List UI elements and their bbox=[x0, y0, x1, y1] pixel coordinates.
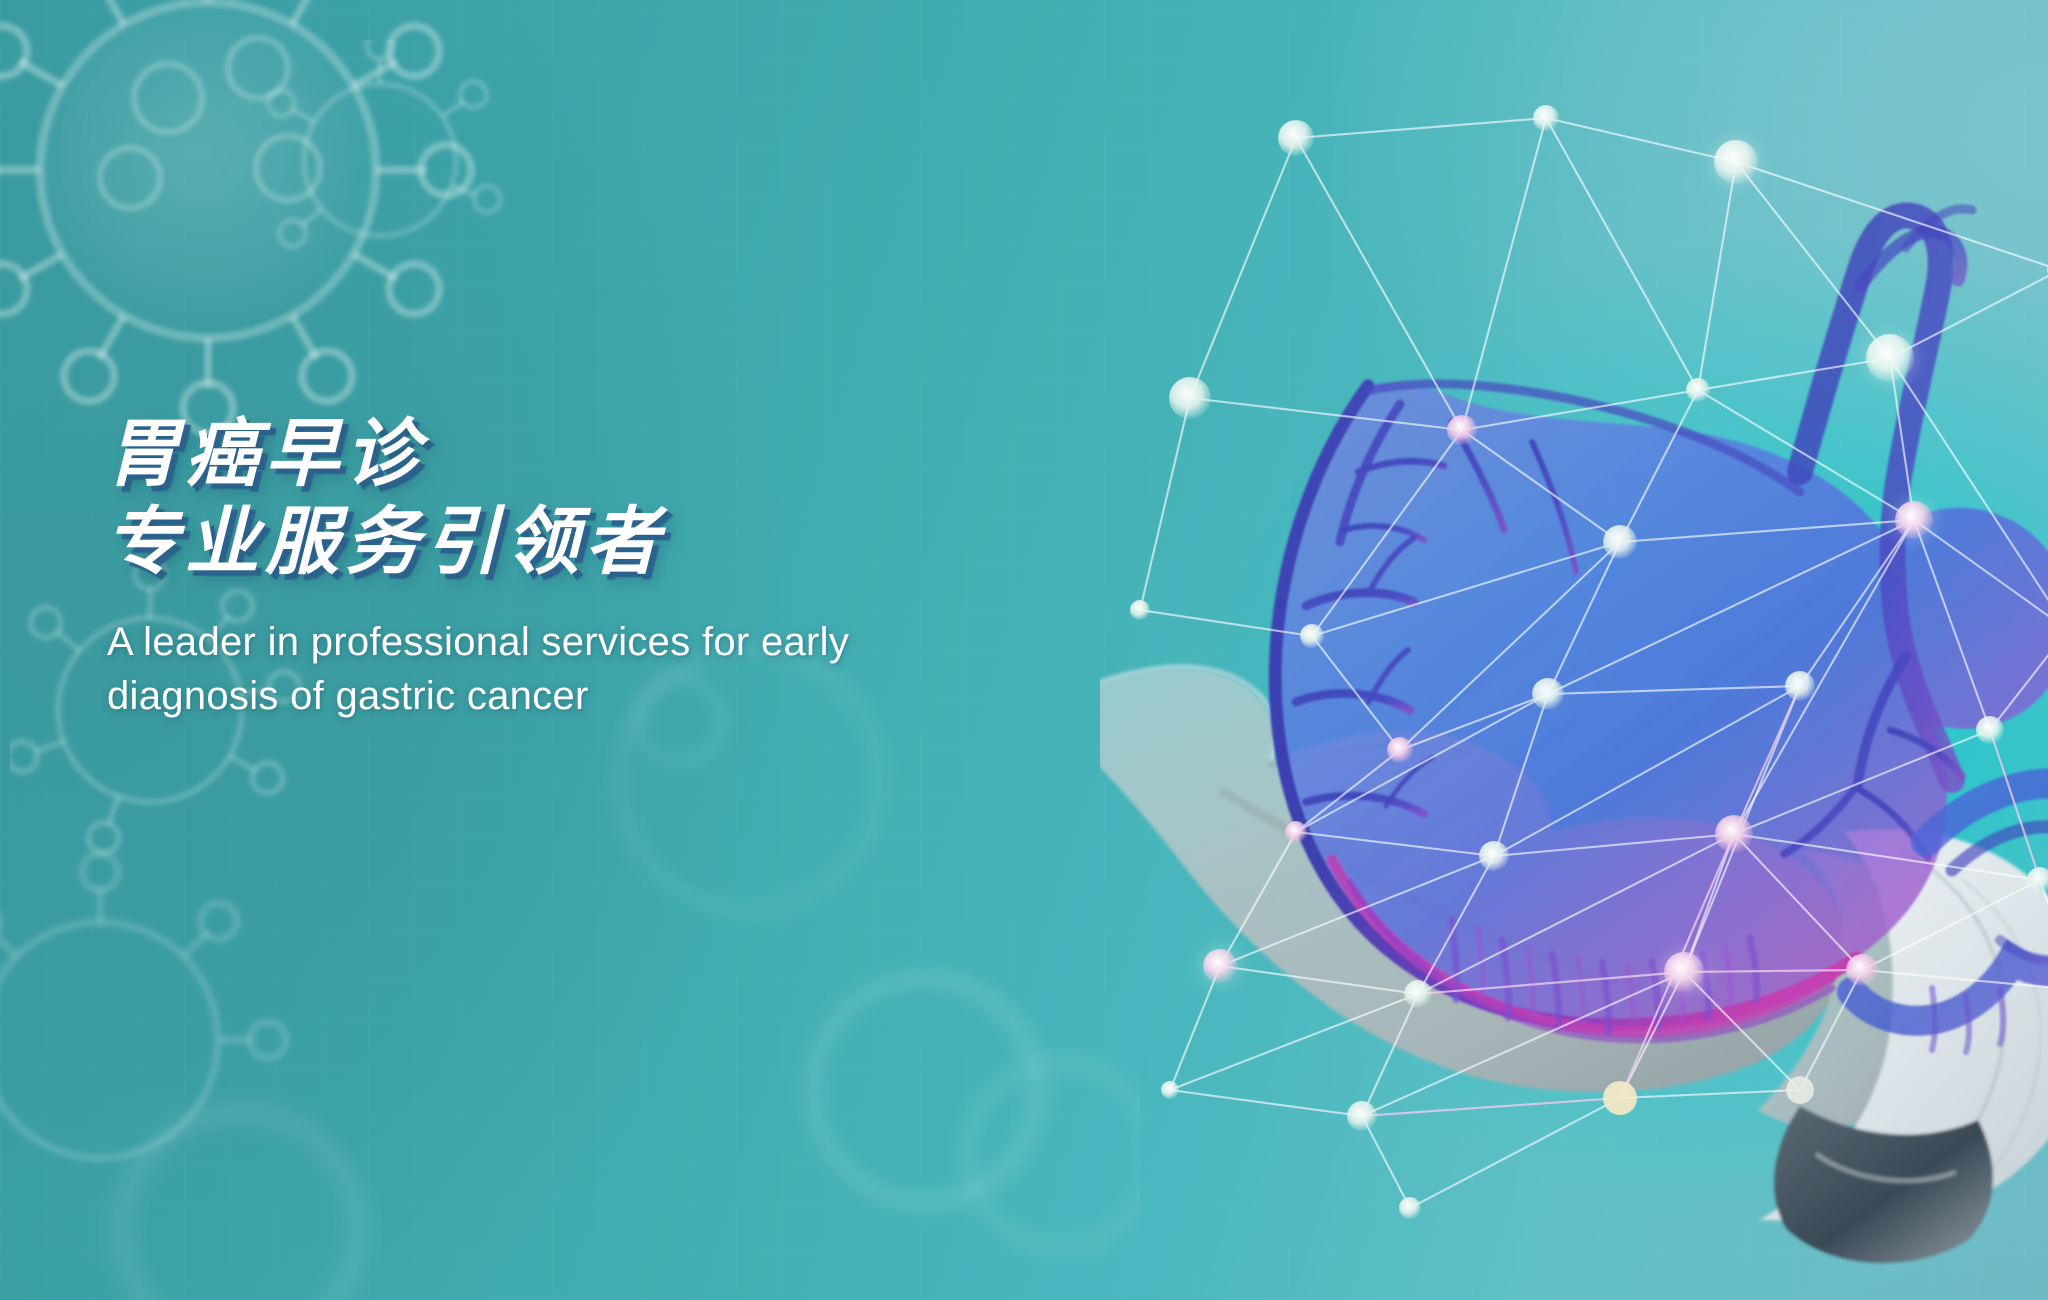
banner-canvas: 胃癌早诊 专业服务引领者 A leader in professional se… bbox=[0, 0, 2048, 1300]
headline-line-1: 胃癌早诊 bbox=[105, 410, 1125, 498]
page-title: 胃癌早诊 专业服务引领者 bbox=[105, 410, 1125, 586]
headline-block: 胃癌早诊 专业服务引领者 A leader in professional se… bbox=[105, 410, 1125, 723]
page-subtitle: A leader in professional services for ea… bbox=[107, 616, 1117, 723]
subtitle-line-2: diagnosis of gastric cancer bbox=[107, 670, 1117, 724]
subtitle-line-1: A leader in professional services for ea… bbox=[107, 616, 1117, 670]
headline-line-2: 专业服务引领者 bbox=[105, 498, 1125, 586]
